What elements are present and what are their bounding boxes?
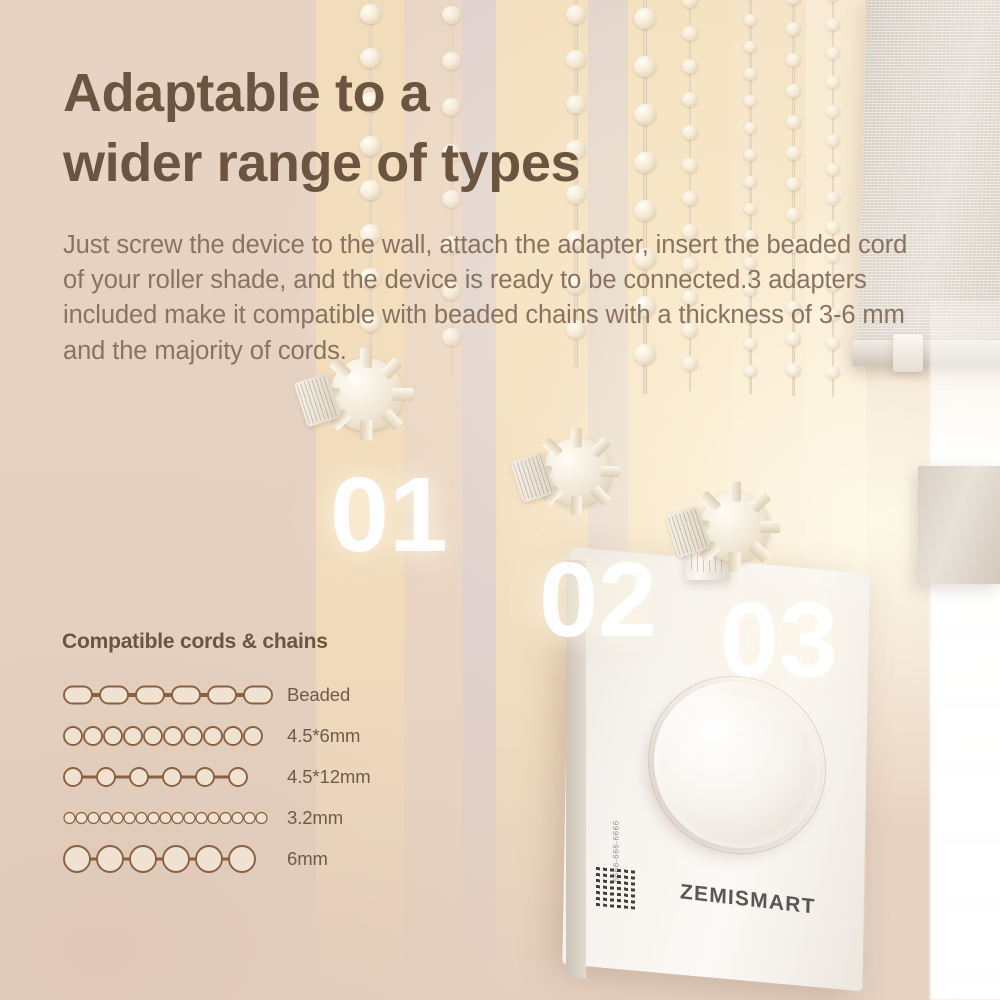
chain-bead <box>786 53 801 67</box>
chain-bead <box>826 192 840 205</box>
chain-link <box>369 199 372 226</box>
product-marketing-image: 6666-666-6666 ZEMISMART Adaptable to a w… <box>0 0 1000 1000</box>
chain-bead <box>744 41 757 53</box>
description-paragraph: Just screw the device to the wall, attac… <box>63 228 931 369</box>
gear-tooth <box>760 521 780 533</box>
gear-tooth <box>393 388 413 400</box>
chain-bead <box>360 4 381 24</box>
chain-link <box>450 23 453 54</box>
chain-bead <box>786 177 801 191</box>
page-title: Adaptable to a wider range of types <box>63 58 743 198</box>
compatibility-label: Beaded <box>274 684 350 706</box>
chain-bead <box>826 47 840 60</box>
qr-code-icon <box>596 864 636 910</box>
gear-tooth <box>729 482 741 502</box>
bead-chain-7 <box>786 0 801 454</box>
chain-bead <box>744 203 757 215</box>
chain-bead <box>786 208 801 222</box>
chain-bead <box>566 5 586 24</box>
gear-tooth <box>360 421 372 441</box>
chain-link <box>643 28 647 58</box>
chain-bead <box>744 68 757 80</box>
step-number-01: 01 <box>330 455 448 576</box>
step-number-03: 03 <box>720 580 838 701</box>
chain-link <box>792 159 794 179</box>
chain-bead <box>826 163 840 176</box>
chain-round-dense-icon <box>62 721 274 751</box>
headline-line-2: wider range of types <box>63 128 743 198</box>
chain-link <box>792 66 794 86</box>
chain-bead <box>826 76 840 89</box>
chain-bead <box>826 18 840 31</box>
gear-tooth <box>571 429 582 448</box>
chain-bead <box>786 0 801 5</box>
compatibility-label: 4.5*6mm <box>274 725 360 747</box>
compatibility-label: 3.2mm <box>274 807 343 829</box>
compatibility-label: 4.5*12mm <box>274 766 371 788</box>
chain-link <box>792 35 794 55</box>
chain-bead <box>744 95 757 107</box>
device-label: 6666-666-6666 <box>592 768 644 923</box>
bead-chain-6 <box>744 0 757 452</box>
chain-bead <box>786 22 801 36</box>
chain-link <box>689 7 692 28</box>
chain-bead <box>744 14 757 26</box>
chain-bead <box>826 0 840 2</box>
chain-bead <box>682 26 698 41</box>
chain-link <box>574 23 577 52</box>
compatibility-row: 6mm <box>62 840 422 878</box>
compatibility-label: 6mm <box>274 848 328 870</box>
chain-link <box>792 376 794 396</box>
headline-line-1: Adaptable to a <box>63 63 429 123</box>
chain-bead <box>744 149 757 161</box>
chain-link <box>792 128 794 148</box>
chain-link <box>792 190 794 210</box>
chain-bead <box>744 122 757 134</box>
chain-micro-beads-icon <box>62 803 274 833</box>
chain-bead <box>682 0 698 8</box>
chain-link <box>369 23 372 50</box>
chain-bead <box>786 115 801 129</box>
chain-bead <box>786 84 801 98</box>
compatibility-row: 3.2mm <box>62 799 422 837</box>
compatibility-list: Beaded4.5*6mm4.5*12mm3.2mm6mm <box>62 676 422 878</box>
compatibility-row: 4.5*12mm <box>62 758 422 796</box>
chain-bead <box>442 6 461 24</box>
chain-large-round-icon <box>62 844 274 874</box>
chain-bead <box>786 146 801 160</box>
gear-tooth <box>729 552 741 572</box>
chain-bead <box>826 105 840 118</box>
gear-tooth <box>601 466 620 477</box>
compatibility-row: Beaded <box>62 676 422 714</box>
chain-link <box>832 378 834 397</box>
chain-bead <box>634 8 656 29</box>
description-text: Just screw the device to the wall, attac… <box>63 228 931 369</box>
gear-tooth <box>571 496 582 515</box>
compatibility-section: Compatible cords & chains Beaded4.5*6mm4… <box>62 630 422 881</box>
chain-link <box>749 376 751 394</box>
chain-link <box>792 97 794 117</box>
compatibility-row: 4.5*6mm <box>62 717 422 755</box>
chain-link <box>792 4 794 24</box>
step-number-02: 02 <box>539 540 657 661</box>
chain-round-spaced-icon <box>62 762 274 792</box>
chain-link <box>689 205 692 226</box>
chain-oval-linked-icon <box>62 680 274 710</box>
chain-link <box>689 370 692 391</box>
chain-bead <box>634 200 656 221</box>
chain-bead <box>744 176 757 188</box>
compatibility-title: Compatible cords & chains <box>62 630 422 654</box>
chain-bead <box>826 134 840 147</box>
